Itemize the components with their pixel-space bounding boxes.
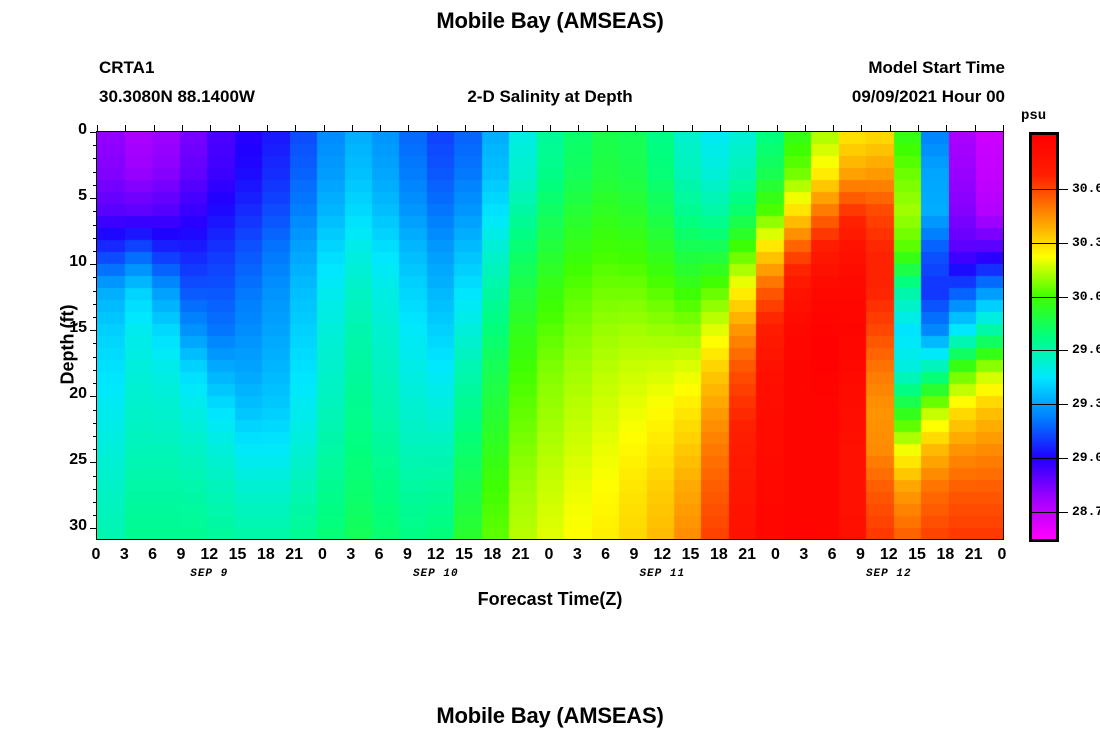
x-tick: [465, 125, 466, 132]
colorbar-tick-label: 28.750: [1072, 504, 1100, 519]
y-minor-tick: [93, 251, 97, 252]
colorbar-tick-inner: [1032, 350, 1056, 351]
x-tick: [295, 125, 296, 132]
y-minor-tick: [93, 277, 97, 278]
x-tick: [154, 125, 155, 132]
x-tick: [692, 125, 693, 132]
colorbar: 30.62530.31230.00029.68829.37529.06228.7…: [1029, 132, 1059, 542]
x-tick: [777, 125, 778, 132]
x-tick: [239, 125, 240, 132]
x-tick: [408, 125, 409, 132]
x-day-label: SEP 11: [617, 568, 707, 580]
y-minor-tick: [93, 304, 97, 305]
x-tick: [493, 125, 494, 132]
colorbar-gradient: [1032, 135, 1056, 539]
y-minor-tick: [93, 410, 97, 411]
x-tick: [267, 125, 268, 132]
x-tick: [748, 125, 749, 132]
y-minor-tick: [93, 357, 97, 358]
x-tick: [522, 125, 523, 132]
colorbar-tick-inner: [1032, 189, 1056, 190]
y-minor-tick: [93, 238, 97, 239]
colorbar-tick-label: 29.375: [1072, 396, 1100, 411]
colorbar-tick-label: 29.688: [1072, 342, 1100, 357]
y-minor-tick: [93, 370, 97, 371]
y-minor-tick: [93, 476, 97, 477]
y-minor-tick: [93, 145, 97, 146]
y-minor-tick: [93, 383, 97, 384]
model-start-time-value: 09/09/2021 Hour 00: [852, 87, 1005, 107]
colorbar-tick: [1059, 189, 1068, 190]
x-tick: [918, 125, 919, 132]
x-tick: [578, 125, 579, 132]
y-minor-tick: [93, 211, 97, 212]
colorbar-tick: [1059, 297, 1068, 298]
x-tick-label: 0: [982, 546, 1022, 564]
y-tick: [90, 198, 97, 199]
page-title: Mobile Bay (AMSEAS): [0, 8, 1100, 34]
colorbar-tick: [1059, 350, 1068, 351]
x-tick: [97, 125, 98, 132]
model-start-time-label: Model Start Time: [868, 58, 1005, 78]
colorbar-tick-label: 29.062: [1072, 450, 1100, 465]
x-tick: [1003, 125, 1004, 132]
y-minor-tick: [93, 185, 97, 186]
y-tick: [90, 132, 97, 133]
colorbar-tick-inner: [1032, 297, 1056, 298]
y-tick-label: 25: [47, 451, 87, 469]
x-tick: [210, 125, 211, 132]
x-tick: [550, 125, 551, 132]
colorbar-tick-inner: [1032, 404, 1056, 405]
heatmap-canvas: [97, 132, 1003, 539]
colorbar-tick: [1059, 458, 1068, 459]
x-tick: [324, 125, 325, 132]
y-minor-tick: [93, 515, 97, 516]
x-day-label: SEP 9: [164, 568, 254, 580]
x-tick: [890, 125, 891, 132]
y-minor-tick: [93, 343, 97, 344]
y-minor-tick: [93, 502, 97, 503]
colorbar-tick: [1059, 243, 1068, 244]
colorbar-unit-label: psu: [1021, 108, 1046, 124]
colorbar-tick-label: 30.625: [1072, 181, 1100, 196]
colorbar-tick-label: 30.312: [1072, 235, 1100, 250]
y-tick-label: 30: [47, 517, 87, 535]
y-minor-tick: [93, 449, 97, 450]
colorbar-tick: [1059, 404, 1068, 405]
x-tick: [975, 125, 976, 132]
colorbar-tick-inner: [1032, 512, 1056, 513]
y-minor-tick: [93, 172, 97, 173]
y-tick: [90, 462, 97, 463]
x-tick: [833, 125, 834, 132]
x-axis-title: Forecast Time(Z): [0, 589, 1100, 610]
y-tick: [90, 396, 97, 397]
station-id: CRTA1: [99, 58, 154, 78]
salinity-heatmap-plot: [96, 131, 1004, 540]
x-tick: [125, 125, 126, 132]
y-minor-tick: [93, 436, 97, 437]
y-minor-tick: [93, 225, 97, 226]
x-tick: [182, 125, 183, 132]
y-tick: [90, 264, 97, 265]
x-tick: [437, 125, 438, 132]
y-tick-label: 0: [47, 121, 87, 139]
x-tick: [946, 125, 947, 132]
colorbar-tick-inner: [1032, 243, 1056, 244]
x-tick: [380, 125, 381, 132]
colorbar-tick-inner: [1032, 458, 1056, 459]
x-tick: [663, 125, 664, 132]
x-tick: [352, 125, 353, 132]
y-minor-tick: [93, 158, 97, 159]
y-minor-tick: [93, 423, 97, 424]
bottom-title: Mobile Bay (AMSEAS): [0, 703, 1100, 729]
x-tick: [607, 125, 608, 132]
x-tick: [805, 125, 806, 132]
y-tick-label: 5: [47, 187, 87, 205]
x-day-label: SEP 12: [844, 568, 934, 580]
colorbar-tick: [1059, 512, 1068, 513]
y-axis-title: Depth (ft): [58, 265, 79, 425]
y-tick: [90, 330, 97, 331]
y-tick: [90, 528, 97, 529]
x-tick: [861, 125, 862, 132]
y-minor-tick: [93, 489, 97, 490]
x-day-label: SEP 10: [391, 568, 481, 580]
x-tick: [720, 125, 721, 132]
colorbar-tick-label: 30.000: [1072, 289, 1100, 304]
y-minor-tick: [93, 317, 97, 318]
y-minor-tick: [93, 291, 97, 292]
x-tick: [635, 125, 636, 132]
